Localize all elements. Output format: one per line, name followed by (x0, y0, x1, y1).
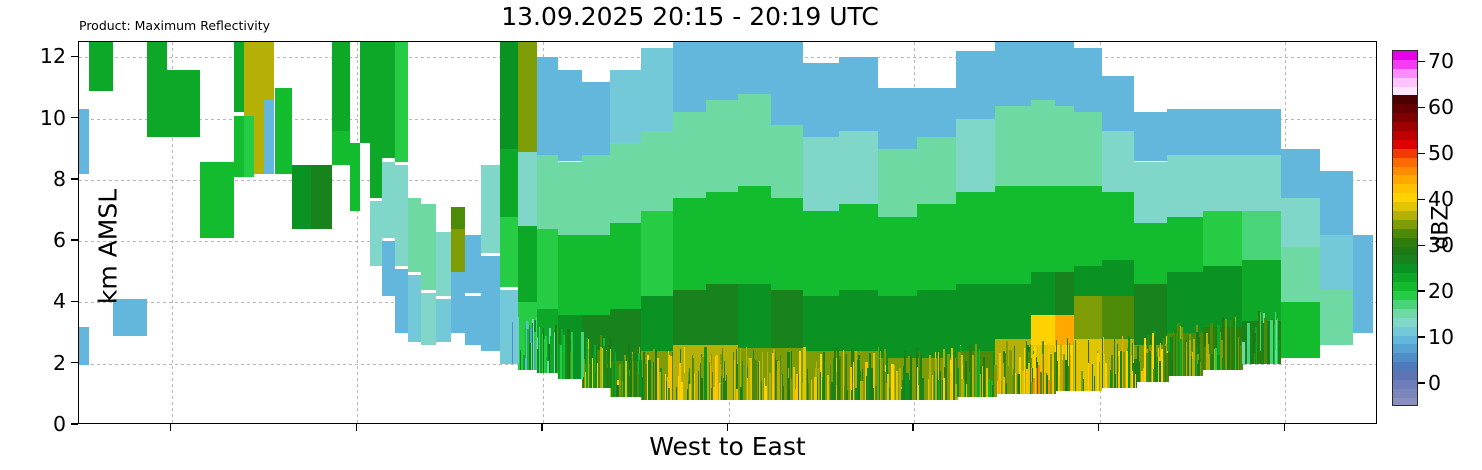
heatmap-cell (1031, 186, 1055, 272)
colorbar-segment (1393, 131, 1417, 140)
heatmap-streak (977, 353, 980, 398)
heatmap-streak (575, 340, 577, 379)
heatmap-streak (793, 367, 795, 401)
heatmap-cell (311, 165, 332, 229)
colorbar-tick-mark (1418, 336, 1425, 337)
heatmap-streak (550, 336, 553, 373)
heatmap-streak (1275, 350, 1276, 363)
heatmap-cell (917, 137, 956, 204)
y-axis-label: km AMSL (94, 127, 123, 367)
colorbar-tick-mark (1418, 153, 1425, 154)
heatmap-cell (451, 207, 465, 228)
heatmap-cell (1281, 198, 1320, 247)
heatmap-cell (537, 229, 558, 309)
heatmap-streak (1133, 363, 1135, 388)
colorbar-segment (1393, 318, 1417, 327)
heatmap-streak (521, 349, 522, 370)
heatmap-cell (771, 42, 803, 125)
heatmap-cell (1074, 112, 1102, 186)
heatmap-cell (89, 42, 114, 91)
colorbar-segment (1393, 380, 1417, 389)
heatmap-cell (1134, 223, 1166, 284)
heatmap-streak (532, 323, 533, 369)
heatmap-cell (382, 162, 395, 239)
colorbar-segment (1393, 113, 1417, 122)
heatmap-streak (896, 371, 898, 400)
heatmap-streak (1240, 345, 1242, 370)
heatmap-streak (982, 370, 983, 397)
heatmap-streak (728, 351, 729, 400)
heatmap-streak (518, 317, 519, 364)
heatmap-streak (1114, 339, 1115, 388)
heatmap-cell (292, 165, 311, 229)
colorbar-segment (1393, 273, 1417, 282)
heatmap-streak (1235, 321, 1237, 370)
heatmap-cell (465, 296, 481, 345)
heatmap-streak (839, 360, 840, 401)
heatmap-streak (807, 369, 808, 401)
heatmap-streak (1159, 361, 1161, 382)
colorbar-segment (1393, 389, 1417, 398)
heatmap-cell (1102, 131, 1134, 192)
colorbar-segment (1393, 229, 1417, 238)
heatmap-streak (590, 338, 592, 388)
colorbar-segment (1393, 51, 1417, 60)
heatmap-streak (701, 378, 703, 401)
plot-area (78, 41, 1377, 424)
y-tick-mark (71, 239, 78, 240)
heatmap-streak (938, 380, 940, 401)
heatmap-column (350, 42, 360, 423)
heatmap-streak (811, 380, 812, 400)
heatmap-streak (571, 332, 573, 379)
heatmap-streak (721, 376, 722, 400)
heatmap-cell (995, 186, 1031, 284)
heatmap-streak (1230, 320, 1231, 370)
heatmap-cell (408, 198, 421, 272)
heatmap-cell (1320, 235, 1354, 290)
heatmap-streak (748, 360, 750, 400)
heatmap-streak (1225, 319, 1227, 370)
heatmap-cell (1203, 211, 1242, 266)
heatmap-streak (1210, 354, 1212, 370)
heatmap-streak (867, 368, 869, 401)
heatmap-cell (395, 165, 408, 266)
colorbar-segment (1393, 175, 1417, 184)
heatmap-column (1353, 42, 1372, 423)
heatmap-streak (769, 373, 771, 401)
heatmap-cell (1102, 192, 1134, 259)
heatmap-cell (408, 275, 421, 342)
heatmap-streak (788, 390, 790, 401)
heatmap-cell (706, 100, 738, 192)
heatmap-streak (659, 372, 661, 400)
heatmap-streak (1163, 338, 1164, 382)
heatmap-column (147, 42, 167, 423)
heatmap-streak (1189, 340, 1191, 376)
y-tick-label: 0 (53, 412, 66, 436)
heatmap-cell (706, 192, 738, 284)
heatmap-streak (1110, 373, 1112, 388)
heatmap-cell (518, 42, 537, 152)
heatmap-column (244, 42, 254, 423)
heatmap-cell (917, 88, 956, 137)
heatmap-streak (1060, 344, 1062, 391)
heatmap-cell (395, 42, 408, 162)
x-tick-mark (170, 424, 171, 431)
heatmap-column (481, 42, 500, 423)
heatmap-cell (771, 125, 803, 199)
heatmap-cell (1203, 109, 1242, 155)
heatmap-cell (1055, 42, 1074, 106)
heatmap-streak (969, 372, 970, 397)
heatmap-streak (903, 368, 905, 401)
heatmap-streak (998, 379, 1000, 394)
heatmap-streak (820, 372, 821, 400)
heatmap-streak (543, 333, 544, 373)
heatmap-cell (956, 51, 995, 118)
heatmap-cell (956, 192, 995, 284)
heatmap-streak (1193, 339, 1195, 376)
heatmap-cell (1102, 296, 1134, 339)
heatmap-cell (738, 42, 770, 94)
x-tick-mark (356, 424, 357, 431)
heatmap-streak (642, 377, 644, 401)
heatmap-streak (713, 387, 715, 400)
heatmap-column (465, 42, 481, 423)
heatmap-streak (1037, 362, 1038, 395)
heatmap-streak (917, 367, 918, 401)
heatmap-streak (855, 388, 857, 400)
heatmap-streak (520, 350, 521, 370)
heatmap-cell (803, 296, 839, 351)
heatmap-column (275, 42, 293, 423)
heatmap-streak (1062, 361, 1063, 392)
heatmap-streak (1126, 351, 1128, 388)
colorbar-segment (1393, 255, 1417, 264)
heatmap-streak (827, 375, 828, 401)
heatmap-cell (878, 217, 917, 297)
heatmap-cell (706, 42, 738, 100)
heatmap-cell (706, 284, 738, 345)
heatmap-streak (1007, 366, 1008, 394)
radar-cross-section-figure: 13.09.2025 20:15 - 20:19 UTC Product: Ma… (0, 0, 1482, 470)
heatmap-cell (481, 256, 500, 351)
heatmap-streak (1228, 328, 1230, 370)
colorbar-segment (1393, 238, 1417, 247)
heatmap-cell (1320, 290, 1354, 345)
heatmap-cell (1055, 106, 1074, 186)
colorbar-tick-mark (1418, 61, 1425, 62)
heatmap-cell (1102, 260, 1134, 297)
colorbar-segment (1393, 336, 1417, 345)
y-tick-label: 10 (40, 106, 66, 130)
y-tick-label: 8 (53, 167, 66, 191)
y-tick-mark (71, 301, 78, 302)
heatmap-streak (843, 350, 844, 401)
heatmap-column (1320, 42, 1354, 423)
heatmap-streak (950, 373, 953, 400)
heatmap-column (370, 42, 382, 423)
heatmap-streak (1144, 338, 1146, 383)
colorbar-segment (1393, 264, 1417, 273)
heatmap-streak (1222, 358, 1225, 370)
colorbar-tick-label: 60 (1428, 95, 1454, 119)
heatmap-streak (736, 389, 738, 400)
heatmap-streak (1054, 352, 1056, 394)
colorbar-segment (1393, 60, 1417, 69)
heatmap-cell (244, 42, 254, 116)
heatmap-streak (637, 374, 638, 398)
heatmap-cell (738, 284, 770, 348)
heatmap-cell (1353, 235, 1372, 284)
heatmap-streak (823, 352, 825, 401)
y-tick-label: 2 (53, 351, 66, 375)
heatmap-cell (771, 290, 803, 348)
colorbar-segment (1393, 104, 1417, 113)
heatmap-streak (629, 376, 631, 397)
heatmap-streak (689, 384, 691, 400)
colorbar-tick-mark (1418, 290, 1425, 291)
heatmap-cell (1167, 217, 1203, 272)
heatmap-cell (610, 223, 641, 309)
heatmap-streak (539, 327, 540, 373)
heatmap-cell (518, 152, 537, 226)
heatmap-streak (1153, 369, 1156, 382)
heatmap-streak (1122, 336, 1123, 388)
colorbar-segment (1393, 282, 1417, 291)
heatmap-cell (738, 186, 770, 284)
heatmap-cell (917, 290, 956, 357)
heatmap-cell (451, 229, 465, 272)
heatmap-streak (653, 362, 654, 401)
heatmap-streak (885, 383, 887, 401)
heatmap-cell (995, 42, 1031, 106)
heatmap-streak (582, 341, 583, 379)
heatmap-column (421, 42, 436, 423)
colorbar-segment (1393, 184, 1417, 193)
heatmap-cell (771, 198, 803, 290)
heatmap-streak (863, 364, 864, 400)
heatmap-column (311, 42, 332, 423)
heatmap-streak (1201, 337, 1202, 376)
heatmap-streak (847, 390, 848, 401)
heatmap-cell (1074, 266, 1102, 297)
heatmap-streak (814, 377, 816, 401)
colorbar-segment (1393, 149, 1417, 158)
heatmap-cell (1281, 302, 1320, 357)
colorbar-tick-label: 70 (1428, 49, 1454, 73)
heatmap-streak (746, 347, 747, 401)
heatmap-streak (1180, 339, 1182, 376)
heatmap-streak (710, 355, 711, 401)
heatmap-streak (875, 386, 877, 400)
heatmap-streak (1046, 375, 1048, 394)
colorbar-segment (1393, 398, 1417, 406)
heatmap-cell (1203, 155, 1242, 210)
heatmap-streak (1024, 351, 1025, 395)
heatmap-streak (619, 364, 621, 398)
heatmap-column (395, 42, 408, 423)
heatmap-column (500, 42, 518, 423)
heatmap-streak (733, 352, 734, 401)
heatmap-cell (582, 235, 609, 315)
heatmap-streak (555, 325, 557, 372)
product-label: Product: Maximum Reflectivity (79, 18, 270, 33)
heatmap-cell (537, 155, 558, 229)
colorbar-segment (1393, 327, 1417, 336)
colorbar-tick-label: 0 (1428, 371, 1441, 395)
colorbar-segment (1393, 122, 1417, 131)
heatmap-cell (839, 57, 878, 131)
heatmap-cell (1134, 284, 1166, 345)
heatmap-cell (370, 42, 382, 198)
heatmap-cell (839, 290, 878, 351)
heatmap-streak (1088, 363, 1089, 391)
heatmap-cell (421, 293, 436, 345)
heatmap-cell (1074, 186, 1102, 266)
heatmap-streak (1198, 360, 1201, 376)
heatmap-streak (912, 366, 914, 401)
heatmap-cell (421, 204, 436, 290)
heatmap-streak (994, 365, 996, 398)
heatmap-streak (772, 353, 774, 400)
heatmap-streak (790, 379, 792, 400)
heatmap-cell (1055, 315, 1074, 346)
heatmap-streak (1139, 361, 1141, 382)
heatmap-cell (1167, 155, 1203, 216)
heatmap-streak (615, 352, 616, 398)
heatmap-streak (610, 368, 611, 388)
heatmap-streak (1264, 318, 1267, 364)
heatmap-cell (234, 42, 244, 112)
heatmap-cell (382, 42, 395, 158)
x-tick-mark (1098, 424, 1099, 431)
heatmap-streak (1005, 353, 1006, 394)
heatmap-streak (1173, 333, 1175, 376)
colorbar-tick-mark (1418, 245, 1425, 246)
heatmap-streak (753, 374, 755, 400)
heatmap-streak (929, 355, 930, 401)
heatmap-cell (1353, 284, 1372, 333)
heatmap-column (167, 42, 200, 423)
heatmap-cell (1074, 296, 1102, 339)
heatmap-cell (1281, 247, 1320, 302)
colorbar-segment (1393, 95, 1417, 104)
heatmap-streak (818, 368, 819, 400)
heatmap-cell (1242, 109, 1281, 155)
heatmap-cell (518, 226, 537, 303)
heatmap-streak (529, 343, 531, 370)
colorbar-segment (1393, 309, 1417, 318)
heatmap-column (1242, 42, 1281, 423)
y-tick-mark (71, 362, 78, 363)
heatmap-streak (1097, 353, 1099, 391)
heatmap-streak (515, 331, 517, 364)
heatmap-cell (234, 116, 244, 177)
y-tick-mark (71, 117, 78, 118)
colorbar-tick-mark (1418, 107, 1425, 108)
heatmap-cell (839, 131, 878, 205)
heatmap-column (451, 42, 465, 423)
heatmap-streak (1105, 363, 1106, 388)
colorbar-segment (1393, 344, 1417, 353)
heatmap-streak (871, 368, 873, 401)
colorbar-tick-label: 50 (1428, 141, 1454, 165)
heatmap-column (200, 42, 234, 423)
y-tick-mark (71, 423, 78, 424)
x-axis-label: West to East (78, 432, 1377, 461)
heatmap-streak (1075, 340, 1076, 392)
heatmap-cell (803, 137, 839, 211)
x-tick-mark (1284, 424, 1285, 431)
colorbar-segment (1393, 362, 1417, 371)
heatmap-cell (610, 70, 641, 144)
heatmap-streak (1103, 354, 1105, 388)
heatmap-cell (79, 109, 89, 173)
heatmap-cell (500, 42, 518, 149)
heatmap-cell (1281, 149, 1320, 198)
heatmap-column (1281, 42, 1320, 423)
heatmap-streak (1217, 355, 1220, 369)
colorbar-segment (1393, 158, 1417, 167)
heatmap-cell (738, 94, 770, 186)
heatmap-cell (956, 119, 995, 193)
heatmap-cell (200, 162, 234, 239)
heatmap-cell (839, 204, 878, 290)
heatmap-cell (147, 42, 167, 137)
heatmap-streak (920, 355, 922, 400)
heatmap-cell (1074, 48, 1102, 112)
heatmap-streak (676, 387, 677, 401)
heatmap-cell (1242, 155, 1281, 210)
heatmap-cell (79, 327, 89, 365)
heatmap-cell (803, 63, 839, 137)
heatmap-streak (644, 364, 647, 401)
heatmap-streak (1065, 360, 1067, 391)
colorbar-wrap (1392, 50, 1418, 406)
heatmap-streak (698, 371, 700, 400)
reflectivity-heatmap (79, 42, 1376, 423)
heatmap-cell (481, 165, 500, 254)
heatmap-cell (1320, 171, 1354, 235)
heatmap-cell (332, 42, 351, 131)
colorbar-segment (1393, 202, 1417, 211)
colorbar-tick-label: 20 (1428, 279, 1454, 303)
heatmap-streak (616, 385, 619, 397)
heatmap-column (408, 42, 421, 423)
heatmap-streak (783, 386, 784, 400)
heatmap-cell (673, 198, 705, 290)
heatmap-streak (1013, 369, 1015, 395)
heatmap-streak (860, 381, 862, 401)
heatmap-streak (1186, 342, 1187, 376)
heatmap-streak (1040, 372, 1042, 394)
heatmap-cell (254, 42, 264, 174)
heatmap-cell (1031, 100, 1055, 186)
heatmap-streak (1093, 339, 1094, 391)
heatmap-column (79, 42, 89, 423)
heatmap-streak (1252, 330, 1254, 364)
heatmap-streak (759, 361, 760, 401)
heatmap-cell (167, 70, 200, 137)
colorbar (1392, 50, 1418, 406)
heatmap-streak (777, 361, 779, 401)
heatmap-streak (1255, 342, 1256, 364)
heatmap-streak (1118, 372, 1120, 388)
heatmap-streak (780, 355, 781, 400)
heatmap-streak (665, 374, 666, 400)
